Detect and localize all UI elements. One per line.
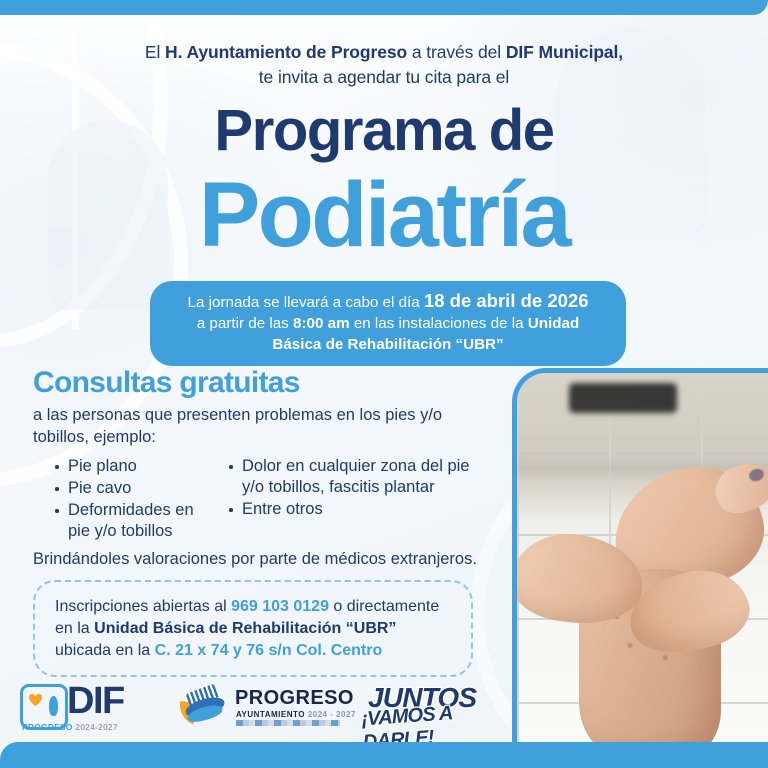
dif-subtitle: PROGRESO 2024-2027 xyxy=(22,722,118,732)
header-text: El H. Ayuntamiento de Progreso a través … xyxy=(0,40,768,90)
bottom-accent-bar xyxy=(0,742,768,768)
event-date-banner: La jornada se llevará a cabo el día 18 d… xyxy=(150,281,626,366)
registration-pre: Inscripciones abiertas al xyxy=(55,598,231,615)
header-bold-dif: DIF Municipal, xyxy=(506,42,623,62)
section-heading-consultas: Consultas gratuitas xyxy=(33,366,300,400)
condition-column-right: Dolor en cualquier zona del pie y/o tobi… xyxy=(226,456,476,521)
logo-dif: DIF PROGRESO 2024-2027 xyxy=(20,680,160,738)
header-bold-ayuntamiento: H. Ayuntamiento de Progreso xyxy=(165,42,407,62)
registration-phone[interactable]: 969 103 0129 xyxy=(231,598,329,615)
progreso-wave-icon xyxy=(180,683,228,727)
header-mid: a través del xyxy=(407,42,506,62)
banner-time: 8:00 am xyxy=(293,315,350,332)
header-line-2: te invita a agendar tu cita para el xyxy=(0,65,768,90)
dif-wordmark: DIF xyxy=(67,680,124,723)
registration-place: Unidad Básica de Rehabilitación “UBR” xyxy=(94,620,396,637)
dif-sub-name: PROGRESO xyxy=(22,722,73,732)
footer-logos: DIF PROGRESO 2024-2027 PROGRESO AYUNTAMI… xyxy=(0,678,768,740)
registration-address: C. 21 x 74 y 76 s/n Col. Centro xyxy=(155,642,383,659)
top-accent-bar xyxy=(0,0,768,15)
section-subtext: a las personas que presenten problemas e… xyxy=(33,404,483,448)
photo-blurred-object xyxy=(569,383,677,413)
banner-post: en las instalaciones de la xyxy=(350,315,528,332)
logo-progreso: PROGRESO AYUNTAMIENTO 2024 - 2027 xyxy=(180,682,340,734)
banner-mid: a partir de las xyxy=(197,315,293,332)
banner-venue-1: Unidad xyxy=(528,315,579,332)
list-item: Dolor en cualquier zona del pie y/o tobi… xyxy=(226,456,476,498)
banner-venue-2: Básica de Rehabilitación “UBR” xyxy=(272,336,503,353)
registration-post: ubicada en la xyxy=(55,642,155,659)
doctors-note: Brindándoles valoraciones por parte de m… xyxy=(33,548,503,570)
header-pre: El xyxy=(145,42,165,62)
list-item: Pie cavo xyxy=(52,478,212,499)
progreso-wordmark: PROGRESO xyxy=(235,687,354,710)
header-line-1: El H. Ayuntamiento de Progreso a través … xyxy=(0,40,768,65)
progreso-stripe-bars xyxy=(236,720,340,726)
progreso-sub-name: AYUNTAMIENTO xyxy=(236,710,305,719)
list-item: Pie plano xyxy=(52,456,212,477)
dif-sub-years: 2024-2027 xyxy=(73,722,118,732)
list-item: Deformidades en pie y/o tobillos xyxy=(52,500,212,542)
page-title-primary: Programa de xyxy=(0,100,768,162)
poster-root: El H. Ayuntamiento de Progreso a través … xyxy=(0,0,768,768)
registration-box: Inscripciones abiertas al 969 103 0129 o… xyxy=(33,580,473,677)
page-title-secondary: Podiatría xyxy=(0,166,768,264)
logo-juntos: JUNTOS ¡VAMOS A DARLE! xyxy=(362,682,492,732)
progreso-sub-years: 2024 - 2027 xyxy=(305,710,356,719)
banner-date: 18 de abril de 2026 xyxy=(424,290,589,311)
condition-column-left: Pie plano Pie cavo Deformidades en pie y… xyxy=(52,456,212,543)
list-item: Entre otros xyxy=(226,499,476,520)
banner-pre: La jornada se llevará a cabo el día xyxy=(188,294,424,311)
progreso-subtitle: AYUNTAMIENTO 2024 - 2027 xyxy=(236,710,356,719)
